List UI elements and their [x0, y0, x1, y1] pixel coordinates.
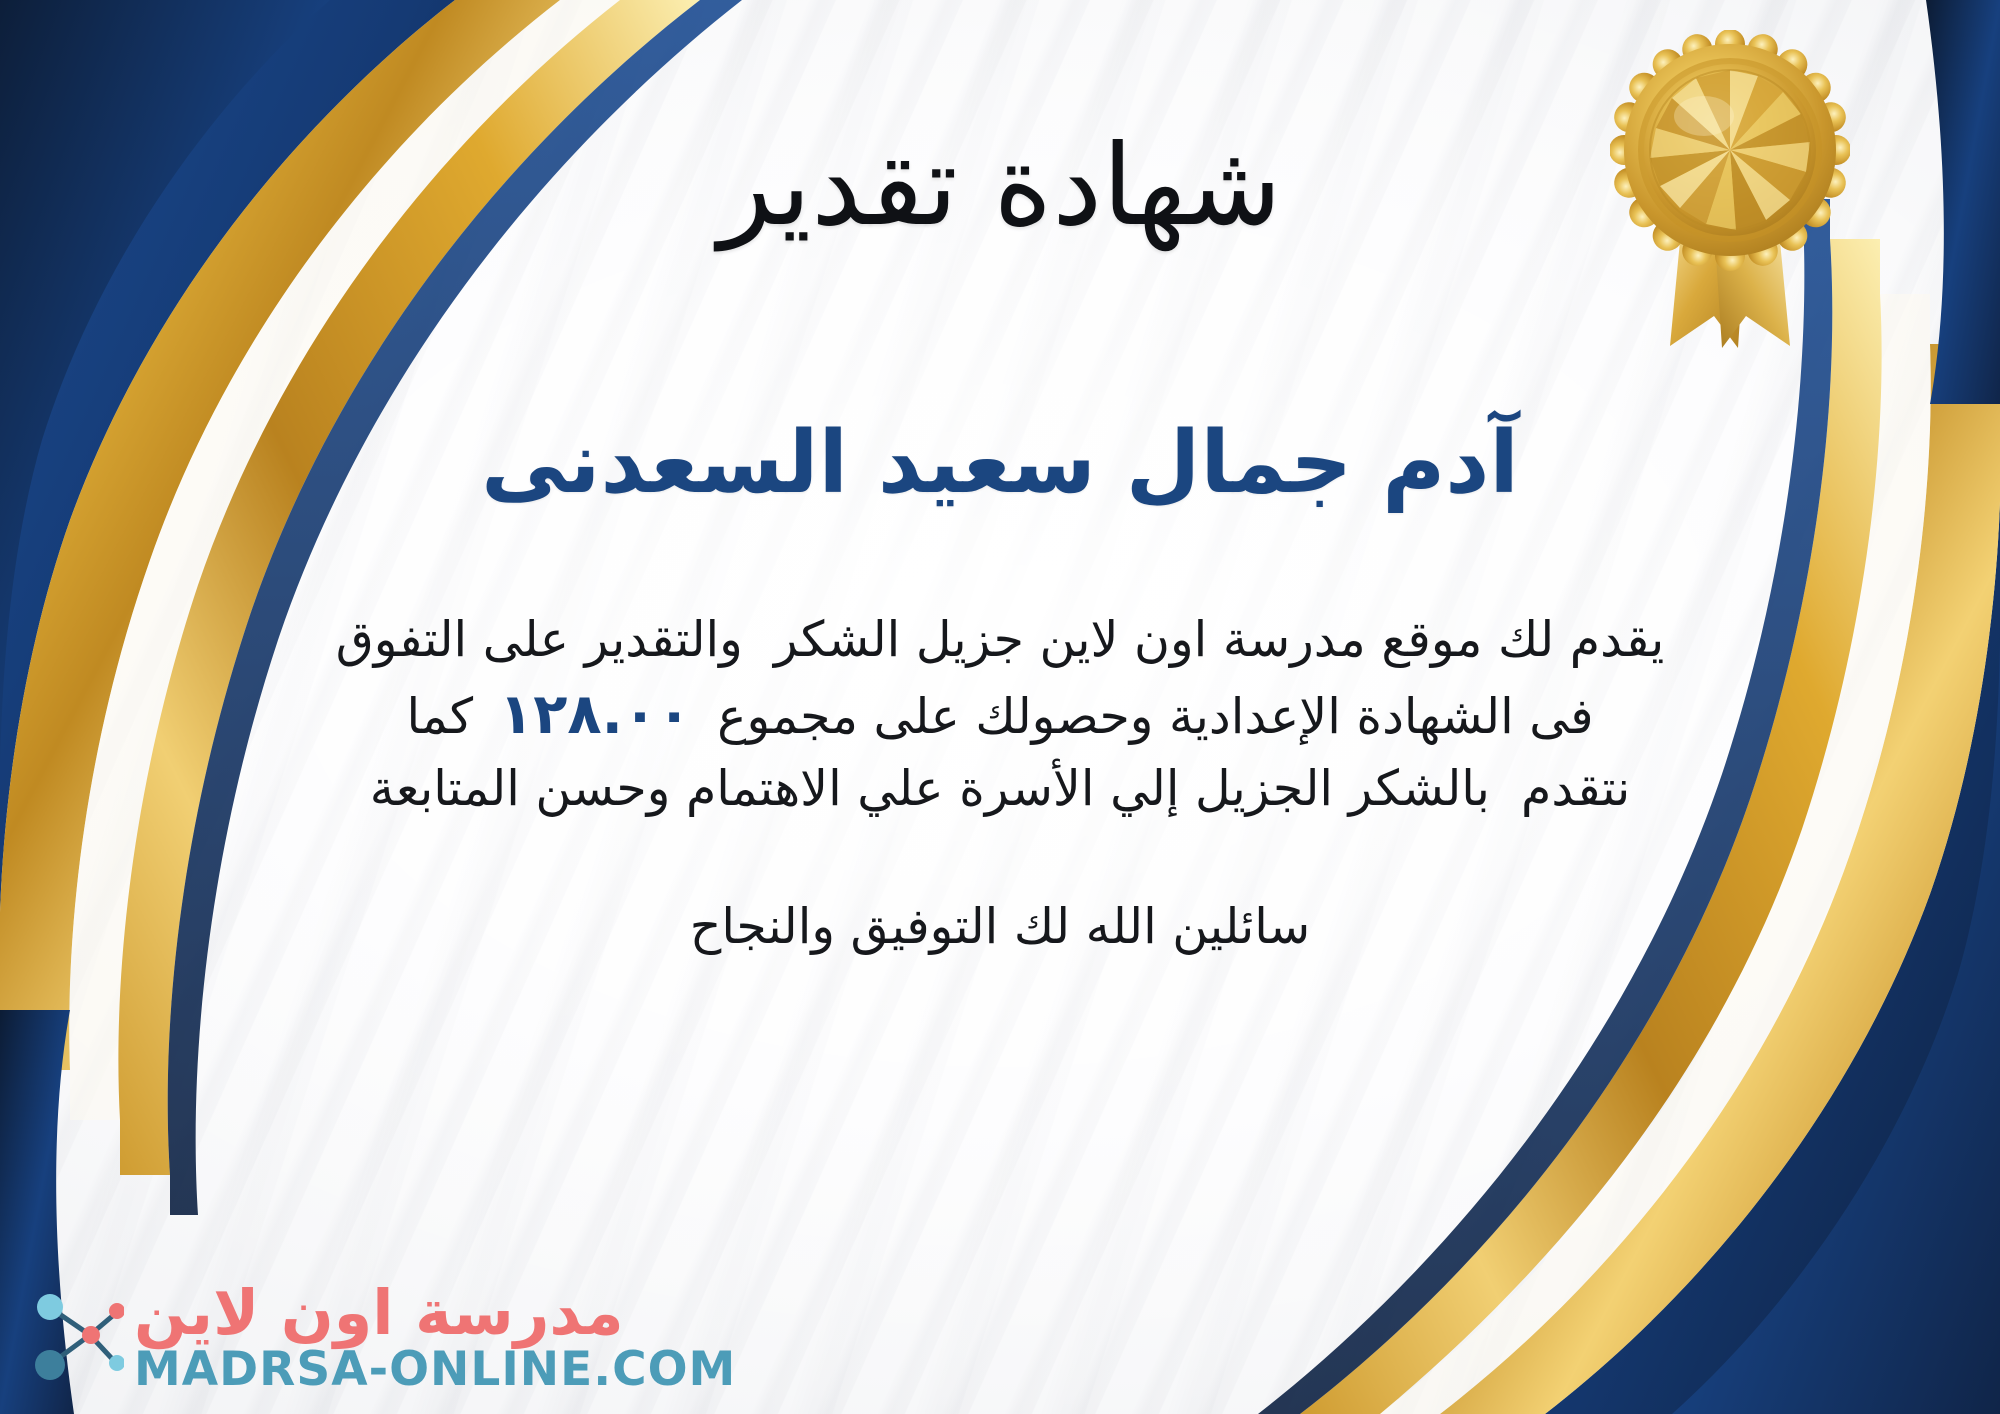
brand-website: MADRSA-ONLINE.COM	[134, 1345, 736, 1394]
body-line-2-end: كما	[406, 688, 473, 745]
body-line-2: فى الشهادة الإعدادية وحصولك على مجموع١٢٨…	[280, 675, 1720, 755]
body-line-1: يقدم لك موقع مدرسة اون لاين جزيل الشكر و…	[280, 605, 1720, 675]
certificate: شهادة تقدير آدم جمال سعيد السعدنى يقدم ل…	[0, 0, 2000, 1414]
brand-arabic-name: مدرسة اون لاين	[134, 1281, 624, 1344]
certificate-content: شهادة تقدير آدم جمال سعيد السعدنى يقدم ل…	[0, 0, 2000, 1414]
brand-logo-text: مدرسة اون لاين MADRSA-ONLINE.COM	[134, 1281, 736, 1394]
closing-line: سائلين الله لك التوفيق والنجاح	[690, 898, 1310, 955]
network-nodes-icon	[28, 1283, 124, 1393]
body-line-2-start: فى الشهادة الإعدادية وحصولك على مجموع	[717, 688, 1593, 745]
brand-logo[interactable]: مدرسة اون لاين MADRSA-ONLINE.COM	[28, 1281, 736, 1394]
recipient-name: آدم جمال سعيد السعدنى	[481, 416, 1519, 511]
page-title: شهادة تقدير	[718, 128, 1281, 246]
certificate-body: يقدم لك موقع مدرسة اون لاين جزيل الشكر و…	[280, 605, 1720, 824]
score-value: ١٢٨.٠٠	[473, 682, 717, 747]
body-line-3: نتقدم بالشكر الجزيل إلي الأسرة علي الاهت…	[280, 754, 1720, 824]
